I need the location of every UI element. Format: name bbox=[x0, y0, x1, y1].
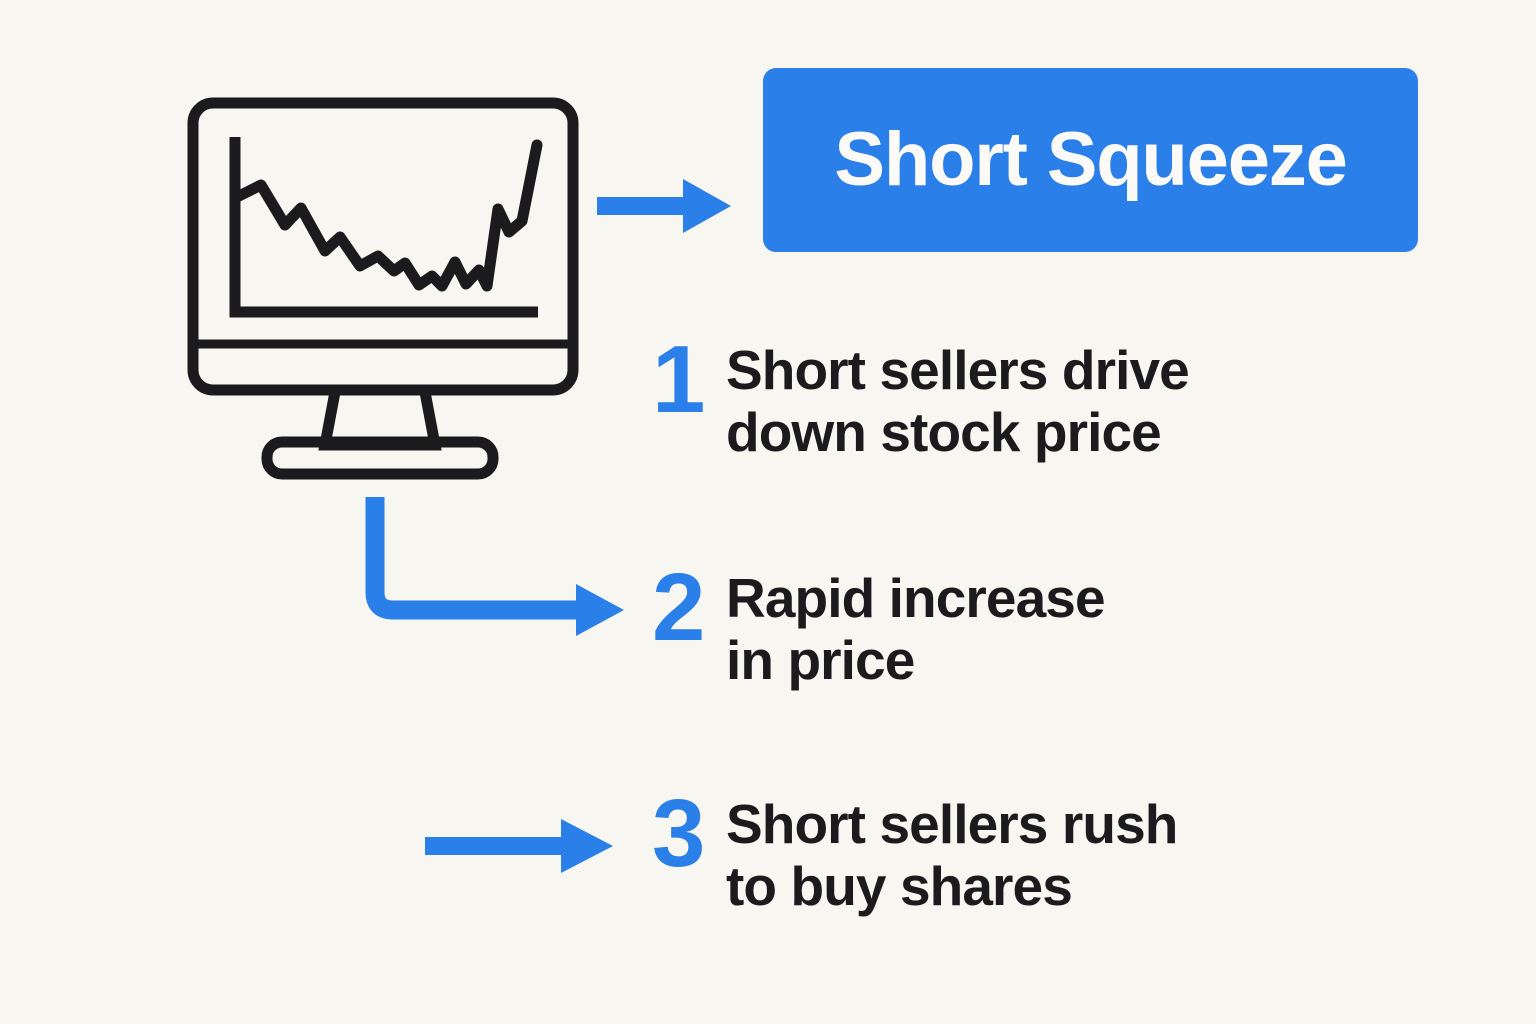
step-text-1: Short sellers drive down stock price bbox=[726, 336, 1189, 463]
step-item-2: 2 Rapid increase in price bbox=[652, 564, 1105, 691]
arrow-right-icon bbox=[597, 175, 737, 237]
arrow-to-step-2 bbox=[358, 480, 638, 650]
arrow-to-step-3 bbox=[425, 815, 620, 877]
monitor-svg bbox=[170, 90, 590, 480]
monitor-chart-icon bbox=[170, 90, 590, 480]
step-text-3: Short sellers rush to buy shares bbox=[726, 790, 1177, 917]
infographic-canvas: Short Squeeze 1 Short sellers drive down… bbox=[0, 0, 1536, 1024]
step-text-2: Rapid increase in price bbox=[726, 564, 1105, 691]
arrow-shape bbox=[425, 819, 613, 873]
arrow-right-icon bbox=[425, 815, 620, 877]
arrow-shape bbox=[597, 179, 731, 233]
arrow-elbow-shaft bbox=[375, 497, 580, 610]
title-badge: Short Squeeze bbox=[763, 68, 1418, 252]
title-badge-label: Short Squeeze bbox=[834, 122, 1346, 198]
monitor-stand-base bbox=[267, 442, 493, 474]
step-item-1: 1 Short sellers drive down stock price bbox=[652, 336, 1189, 463]
step-number-3: 3 bbox=[652, 790, 726, 878]
arrow-to-title-badge bbox=[597, 175, 737, 237]
step-number-2: 2 bbox=[652, 564, 726, 652]
arrow-elbow-icon bbox=[358, 480, 638, 650]
step-number-1: 1 bbox=[652, 336, 726, 424]
arrow-elbow-head bbox=[576, 584, 624, 636]
step-item-3: 3 Short sellers rush to buy shares bbox=[652, 790, 1177, 917]
chart-line bbox=[235, 145, 537, 286]
